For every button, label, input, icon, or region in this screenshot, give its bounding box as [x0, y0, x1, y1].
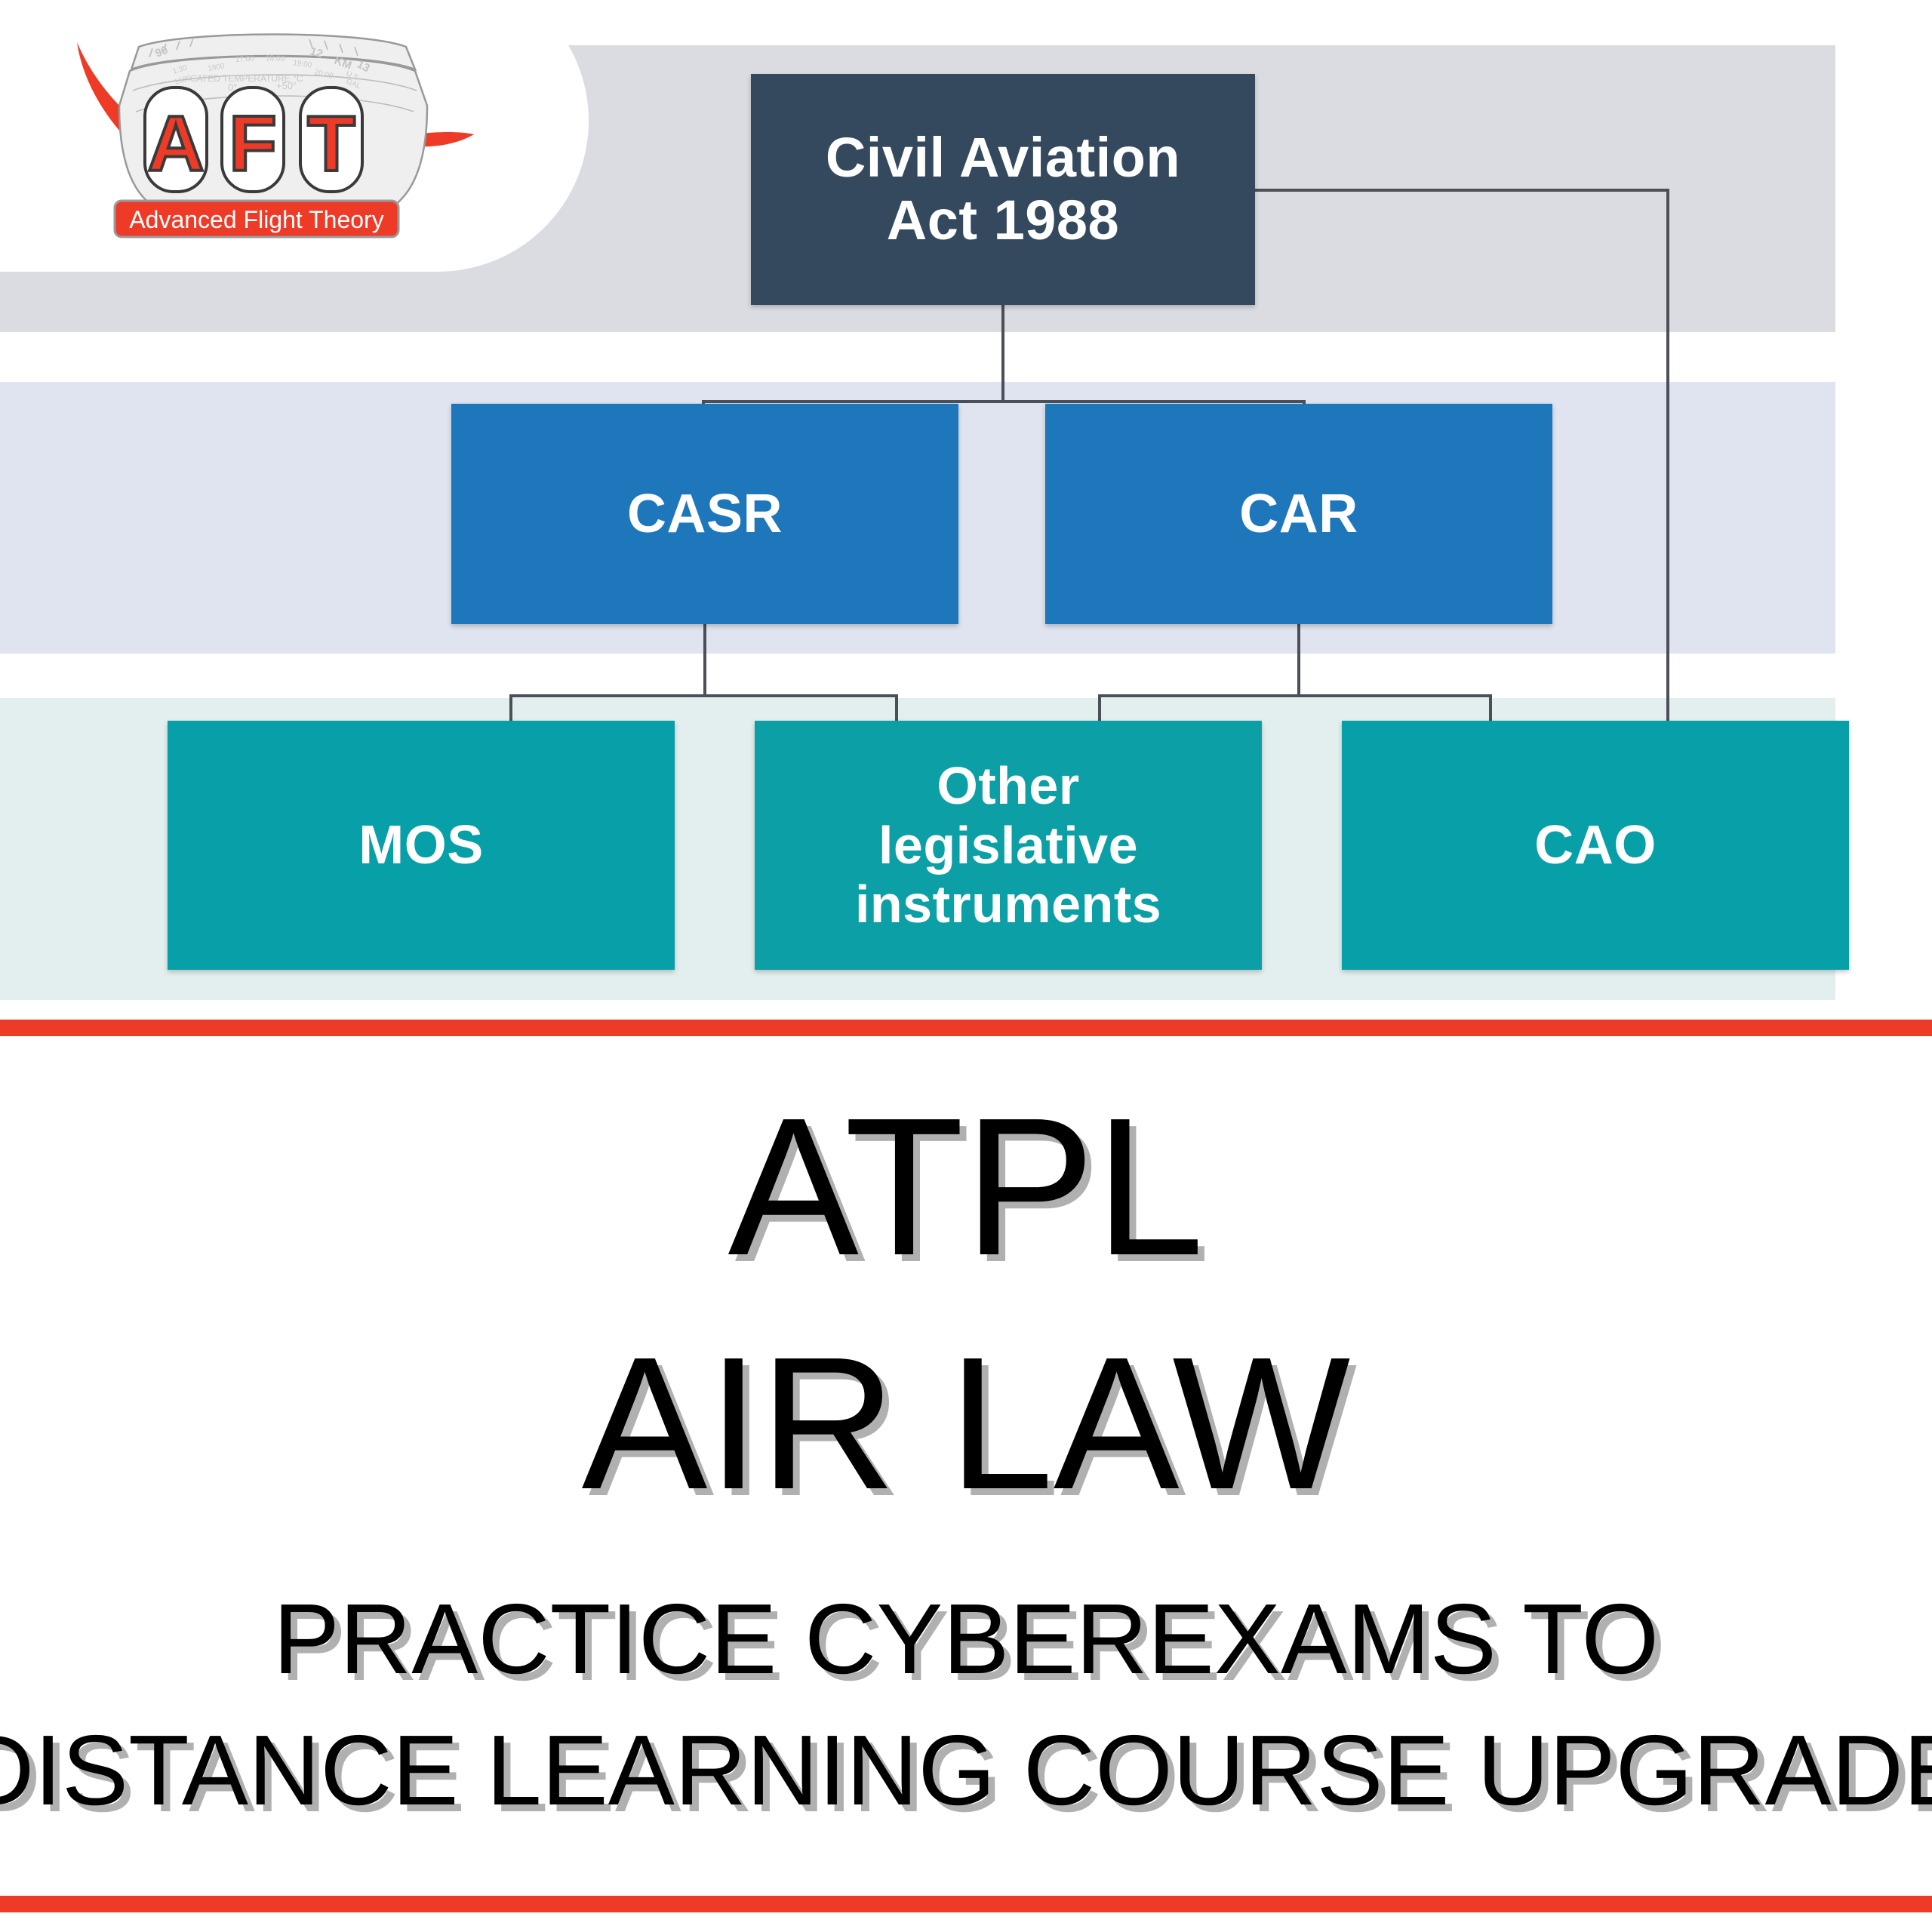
connector-act-to-cao-vertical — [1666, 189, 1669, 724]
connector-car-down — [1297, 624, 1300, 696]
svg-text:T: T — [307, 100, 355, 188]
flowchart-panel: Civil Aviation Act 1988 CASR CAR MOS Oth… — [0, 0, 1932, 1020]
node-oli-line2: legislative — [878, 816, 1138, 875]
connector-casr-to-oli — [895, 694, 898, 724]
node-cao: CAO — [1342, 721, 1849, 970]
connector-casr-to-mos — [509, 694, 512, 724]
connector-act-to-cao-horizontal — [1255, 189, 1669, 192]
svg-text:A: A — [147, 100, 204, 188]
node-oli-line1: Other — [937, 756, 1079, 815]
connector-level1-bus — [702, 400, 1306, 403]
svg-text:17:00: 17:00 — [235, 54, 254, 64]
aft-logo-icon: 90 12 KM 13 1:30 1600 1800 17:00 18:00 1… — [60, 21, 483, 248]
node-mos: MOS — [168, 721, 675, 970]
svg-text:18:00: 18:00 — [266, 54, 285, 63]
connector-act-down — [1001, 305, 1004, 401]
connector-car-to-cao — [1489, 694, 1492, 724]
node-casr-label: CASR — [627, 484, 783, 545]
subject-title: AIR LAW — [582, 1329, 1351, 1518]
svg-text:+50°: +50° — [276, 80, 297, 91]
node-act-line2: Act 1988 — [887, 189, 1119, 251]
connector-casr-bus — [509, 694, 898, 697]
logo-tagline-text: Advanced Flight Theory — [129, 206, 383, 233]
node-oli-line3: instruments — [855, 875, 1161, 934]
node-cao-label: CAO — [1534, 815, 1657, 876]
title-panel: ATPL AIR LAW PRACTICE CYBEREXAMS TO DIST… — [0, 1036, 1932, 1896]
subtitle-line-2: DISTANCE LEARNING COURSE UPGRADE — [0, 1721, 1932, 1820]
connector-car-to-oli — [1098, 694, 1101, 724]
connector-casr-down — [703, 624, 706, 696]
aft-logo: 90 12 KM 13 1:30 1600 1800 17:00 18:00 1… — [60, 21, 483, 248]
divider-rule-top — [0, 1020, 1932, 1036]
node-civil-aviation-act-1988: Civil Aviation Act 1988 — [751, 74, 1255, 305]
node-car-label: CAR — [1239, 484, 1358, 545]
divider-rule-bottom — [0, 1896, 1932, 1912]
node-other-legislative-instruments: Other legislative instruments — [755, 721, 1262, 970]
node-mos-label: MOS — [358, 815, 484, 876]
node-act-line1: Civil Aviation — [826, 126, 1180, 189]
connector-car-bus — [1098, 694, 1492, 697]
page-title: ATPL — [728, 1089, 1204, 1285]
node-car: CAR — [1045, 404, 1552, 624]
svg-text:F: F — [229, 100, 277, 188]
subtitle-line-1: PRACTICE CYBEREXAMS TO — [273, 1589, 1659, 1689]
node-casr: CASR — [451, 404, 958, 624]
